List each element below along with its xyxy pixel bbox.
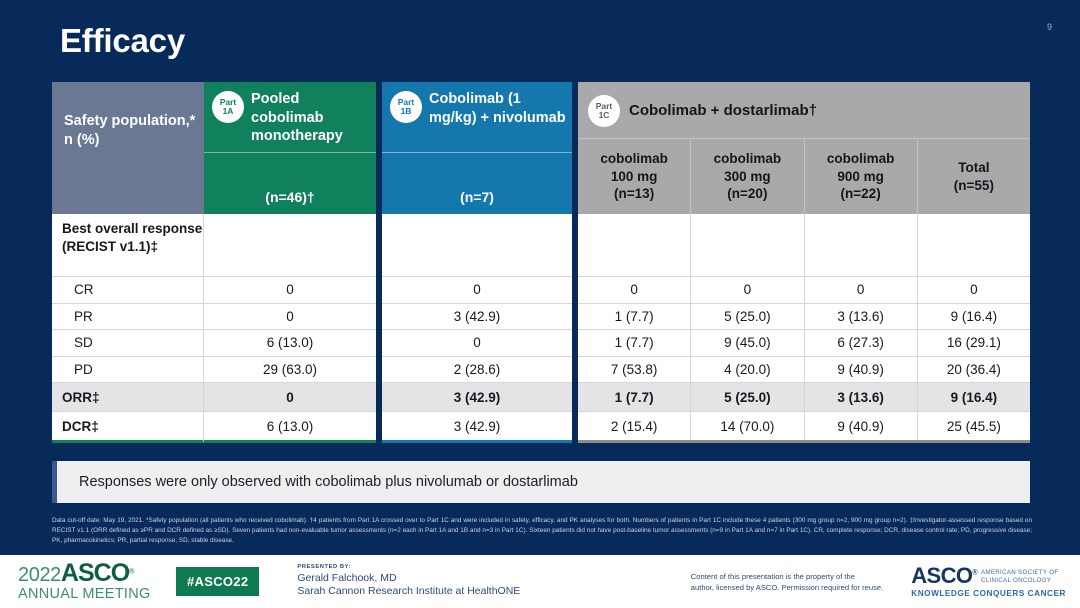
table-row: 3 (42.9) [382, 382, 572, 411]
cell-value: 6 (27.3) [804, 330, 917, 356]
group-header-part-1b: Part1B Cobolimab (1 mg/kg) + nivolumab [382, 82, 572, 152]
asco-annual-meeting-logo: 2022ASCO® ANNUAL MEETING [18, 561, 158, 602]
cell-value: 9 (45.0) [690, 330, 803, 356]
presented-by-label: PRESENTED BY: [297, 564, 520, 571]
group-n-part-1a: (n=46)† [204, 152, 376, 214]
footnotes: Data cut-off date: May 19, 2021. *Safety… [52, 516, 1032, 546]
cell-value: 6 (13.0) [204, 335, 376, 350]
table-row: 6 (13.0) [204, 411, 376, 440]
table-row [204, 214, 376, 276]
cell-value: 5 (25.0) [690, 383, 803, 411]
subcolumn-header-total: Total (n=55) [917, 139, 1030, 214]
cell-value: 0 [578, 277, 690, 303]
group-title: Cobolimab + dostarlimab† [629, 102, 817, 119]
column-header-safety-population: Safety population,* n (%) [52, 82, 204, 214]
group-title: Cobolimab (1 mg/kg) + nivolumab [429, 90, 566, 127]
cell-value: 14 (70.0) [690, 412, 803, 440]
table-row: PD [52, 356, 203, 383]
section-header-best-overall-response: Best overall response (RECIST v1.1)‡ [52, 214, 203, 255]
presenter-name: Gerald Falchook, MD [297, 572, 520, 585]
table-row: 1 (7.7) 5 (25.0) 3 (13.6) 9 (16.4) [578, 382, 1030, 411]
row-label: DCR‡ [52, 419, 203, 434]
subcolumn-header-cobolimab-300mg: cobolimab 300 mg (n=20) [690, 139, 803, 214]
hashtag-badge[interactable]: #ASCO22 [176, 567, 259, 596]
table-row: 2 (28.6) [382, 356, 572, 383]
registered-trademark-icon: ® [972, 570, 977, 577]
table-row: PR [52, 303, 203, 330]
asco-tagline: AMERICAN SOCIETY OF CLINICAL ONCOLOGY [981, 565, 1058, 585]
cell-value: 0 [382, 282, 572, 297]
cell-value: 9 (40.9) [804, 412, 917, 440]
cell-value: 2 (28.6) [382, 362, 572, 377]
cell-value: 0 [204, 282, 376, 297]
cell-value: 5 (25.0) [690, 304, 803, 330]
cell-value: 9 (40.9) [804, 357, 917, 383]
cell-value: 4 (20.0) [690, 357, 803, 383]
cell-value: 3 (42.9) [382, 309, 572, 324]
table-group-part-1c: Part1C Cobolimab + dostarlimab† cobolima… [578, 82, 1030, 443]
table-row: 1 (7.7) 9 (45.0) 6 (27.3) 16 (29.1) [578, 329, 1030, 356]
table-row: Best overall response (RECIST v1.1)‡ [52, 214, 203, 276]
group-title: Pooled cobolimab monotherapy [251, 90, 370, 146]
cell-value: 20 (36.4) [917, 357, 1030, 383]
cell-value: 0 [204, 390, 376, 405]
cell-value: 29 (63.0) [204, 362, 376, 377]
group-header-part-1c: Part1C Cobolimab + dostarlimab† [578, 82, 1030, 138]
asco-slogan: KNOWLEDGE CONQUERS CANCER [911, 590, 1066, 598]
subcolumn-header-cobolimab-900mg: cobolimab 900 mg (n=22) [804, 139, 917, 214]
part-1c-subheaders: cobolimab 100 mg (n=13) cobolimab 300 mg… [578, 138, 1030, 214]
table-row: 2 (15.4) 14 (70.0) 9 (40.9) 25 (45.5) [578, 411, 1030, 440]
cell-value: 0 [204, 309, 376, 324]
table-row [382, 214, 572, 276]
table-row: DCR‡ [52, 411, 203, 440]
row-label: PR [52, 309, 203, 324]
cell-value: 1 (7.7) [578, 330, 690, 356]
cell-value: 0 [690, 277, 803, 303]
table-row: SD [52, 329, 203, 356]
table-row [578, 214, 1030, 276]
group-n-part-1b: (n=7) [382, 152, 572, 214]
logo-annual-meeting: ANNUAL MEETING [18, 587, 158, 602]
cell-value: 3 (42.9) [382, 390, 572, 405]
cell-value: 3 (42.9) [382, 419, 572, 434]
cell-value: 3 (13.6) [804, 383, 917, 411]
cell-value: 0 [382, 335, 572, 350]
asco-wordmark: ASCO® [911, 565, 977, 587]
logo-asco-wordmark: ASCO [61, 559, 129, 587]
asco-society-logo: ASCO® AMERICAN SOCIETY OF CLINICAL ONCOL… [911, 565, 1066, 598]
key-message-callout: Responses were only observed with coboli… [52, 461, 1030, 503]
cell-value: 9 (16.4) [917, 304, 1030, 330]
logo-year: 2022 [18, 564, 61, 586]
cell-value: 16 (29.1) [917, 330, 1030, 356]
table-row: 29 (63.0) [204, 356, 376, 383]
table-row: CR [52, 276, 203, 303]
table-row: 1 (7.7) 5 (25.0) 3 (13.6) 9 (16.4) [578, 303, 1030, 330]
presenter-affiliation: Sarah Cannon Research Institute at Healt… [297, 585, 520, 598]
efficacy-table: Safety population,* n (%) Best overall r… [52, 82, 1030, 443]
row-label: PD [52, 362, 203, 377]
table-row: 0 0 0 0 [578, 276, 1030, 303]
table-row: 0 [204, 382, 376, 411]
rights-statement: Content of this presentation is the prop… [691, 571, 883, 593]
table-row: ORR‡ [52, 382, 203, 411]
callout-text: Responses were only observed with coboli… [79, 474, 578, 490]
table-row: 0 [382, 276, 572, 303]
cell-value: 1 (7.7) [578, 383, 690, 411]
subcolumn-header-cobolimab-100mg: cobolimab 100 mg (n=13) [578, 139, 690, 214]
cell-value: 6 (13.0) [204, 419, 376, 434]
table-group-part-1a: Safety population,* n (%) Best overall r… [52, 82, 376, 443]
part-1a-badge-icon: Part1A [212, 91, 244, 123]
part-1b-badge-icon: Part1B [390, 91, 422, 123]
row-label-column: Safety population,* n (%) Best overall r… [52, 82, 204, 443]
part-1c-badge-icon: Part1C [588, 95, 620, 127]
cell-value: 0 [917, 277, 1030, 303]
group-header-part-1a: Part1A Pooled cobolimab monotherapy [204, 82, 376, 152]
cell-value: 7 (53.8) [578, 357, 690, 383]
cell-value: 25 (45.5) [917, 412, 1030, 440]
table-row: 0 [204, 276, 376, 303]
cell-value: 0 [804, 277, 917, 303]
table-row: 3 (42.9) [382, 411, 572, 440]
table-row: 3 (42.9) [382, 303, 572, 330]
cell-value: 1 (7.7) [578, 304, 690, 330]
cell-value: 2 (15.4) [578, 412, 690, 440]
cell-value: 9 (16.4) [917, 383, 1030, 411]
footer-bar: 2022ASCO® ANNUAL MEETING #ASCO22 PRESENT… [0, 555, 1080, 608]
row-label: ORR‡ [52, 390, 203, 405]
registered-trademark-icon: ® [129, 569, 134, 576]
row-label: SD [52, 335, 203, 350]
table-row: 0 [204, 303, 376, 330]
table-row: 7 (53.8) 4 (20.0) 9 (40.9) 20 (36.4) [578, 356, 1030, 383]
page-title: Efficacy [60, 22, 185, 60]
cell-value: 3 (13.6) [804, 304, 917, 330]
column-part-1a: Part1A Pooled cobolimab monotherapy (n=4… [204, 82, 376, 443]
table-row: 6 (13.0) [204, 329, 376, 356]
table-row: 0 [382, 329, 572, 356]
page-number: 9 [1047, 22, 1052, 32]
presenter-block: PRESENTED BY: Gerald Falchook, MD Sarah … [297, 564, 520, 598]
table-group-part-1b: Part1B Cobolimab (1 mg/kg) + nivolumab (… [382, 82, 572, 443]
row-label: CR [52, 282, 203, 297]
